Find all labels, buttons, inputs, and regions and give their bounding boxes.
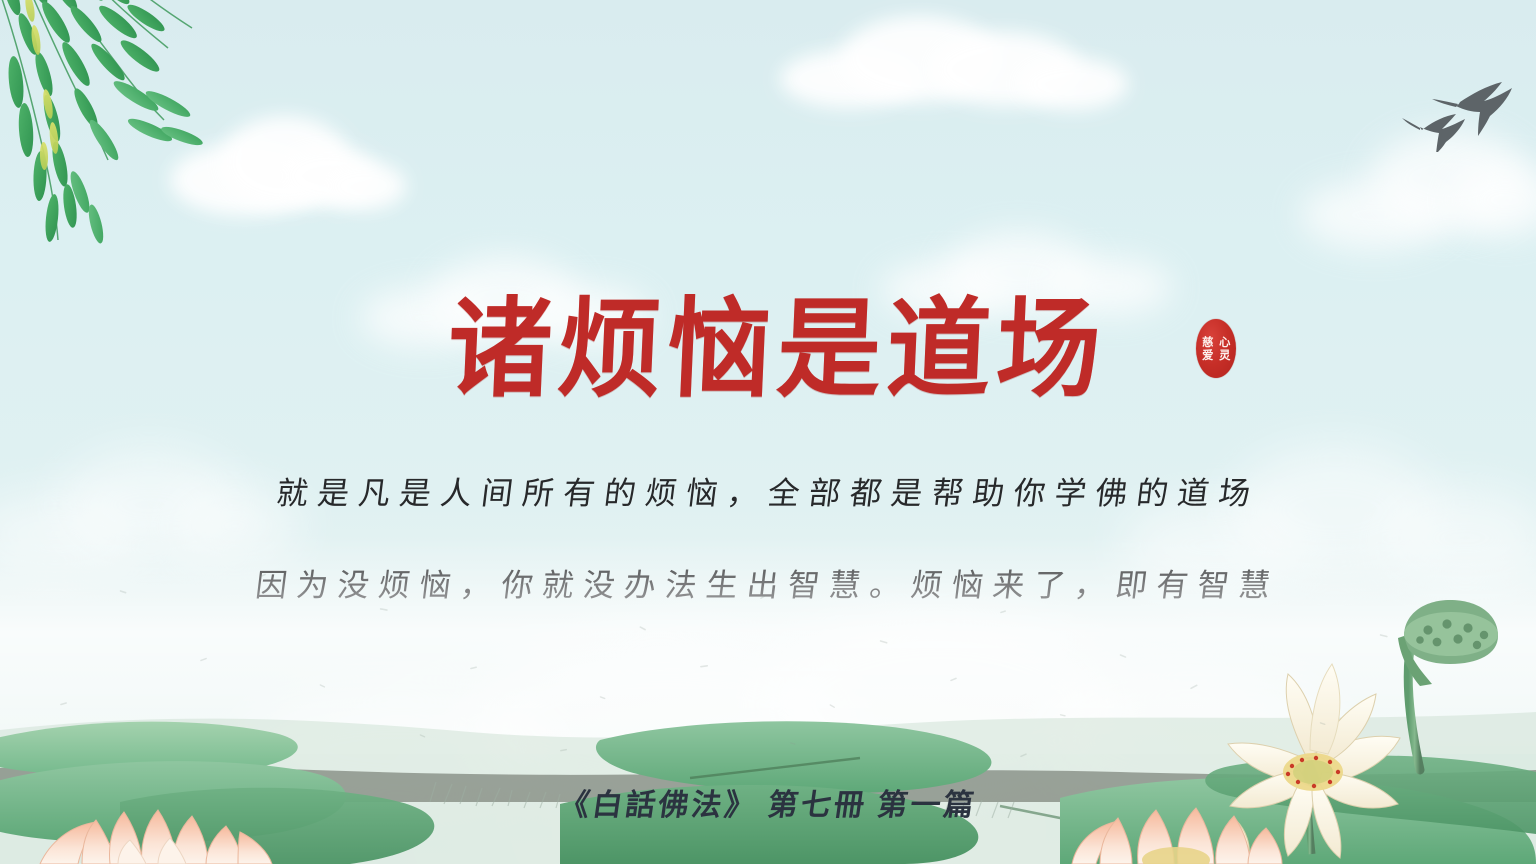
source-citation: 《白話佛法》 第七冊 第一篇 [0, 780, 1536, 824]
swallow-icon-lower [1402, 114, 1465, 152]
quote-line-1-text: 就是凡是人间所有的烦恼，全部都是帮助你学佛的道场 [274, 468, 1262, 514]
seal-char-3: 爱 [1199, 349, 1216, 361]
seal-char-2: 心 [1216, 336, 1233, 348]
seal-characters: 慈 心 爱 灵 [1196, 319, 1236, 378]
swallow-birds-decoration [1398, 72, 1528, 152]
poster-canvas: 诸烦恼是道场 慈 心 爱 灵 就是凡是人间所有的烦恼，全部都是帮助你学佛的道场 … [0, 0, 1536, 864]
willow-branch-decoration [0, 0, 316, 268]
swallow-icon-upper [1432, 82, 1512, 136]
title-row: 诸烦恼是道场 [0, 294, 1536, 404]
seal-char-4: 灵 [1216, 349, 1233, 361]
cloud-top-center [780, 10, 1140, 130]
seal-char-1: 慈 [1199, 336, 1216, 348]
artist-seal: 慈 心 爱 灵 [1196, 319, 1236, 378]
page-title: 诸烦恼是道场 [427, 295, 1108, 403]
quote-line-1: 就是凡是人间所有的烦恼，全部都是帮助你学佛的道场 [0, 468, 1536, 514]
source-citation-text: 《白話佛法》 第七冊 第一篇 [556, 780, 979, 824]
